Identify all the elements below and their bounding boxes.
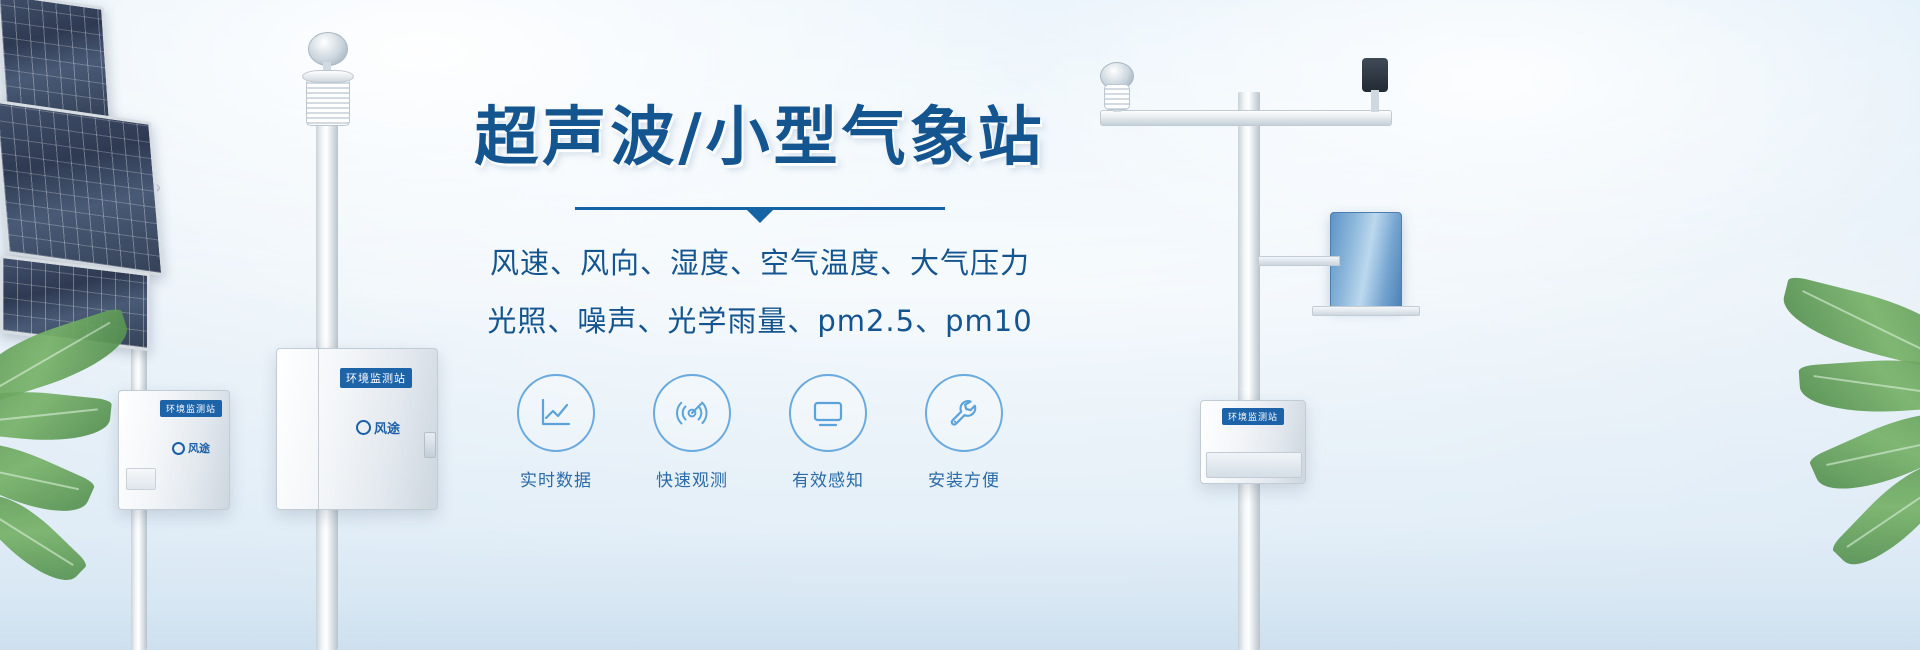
feature-item-realtime-data[interactable]: 实时数据 [506, 374, 606, 491]
subtitle-line-2: 光照、噪声、光学雨量、pm2.5、pm10 [450, 298, 1070, 340]
feature-label: 有效感知 [778, 466, 878, 491]
cabinet-latch [424, 432, 436, 458]
camera-sensor [1362, 58, 1388, 92]
feature-label: 快速观测 [642, 466, 742, 491]
leaf-icon [1798, 354, 1920, 418]
brand-name: 风途 [374, 418, 400, 437]
subtitle-line-1: 风速、风向、湿度、空气温度、大气压力 [450, 240, 1070, 282]
sensor-cap [302, 70, 354, 83]
cabinet-door-seam [318, 348, 319, 510]
leaf-icon [0, 384, 112, 447]
background-ground [0, 530, 1920, 650]
page-title: 超声波/小型气象站 [450, 104, 1070, 173]
cabinet-label: 环境监测站 [1222, 408, 1284, 425]
feature-icon-circle [653, 374, 731, 452]
brand-name: 风途 [188, 440, 210, 456]
cabinet-vent [126, 468, 156, 490]
wrench-icon [944, 393, 984, 433]
product-banner: 环境监测站 风途 环境监测站 风途 [0, 0, 1920, 650]
left-weather-station: 环境监测站 风途 [0, 0, 1920, 112]
radiation-shield-sensor [306, 78, 350, 126]
feature-item-effective-sensing[interactable]: 有效感知 [778, 374, 878, 491]
radiation-shield-sensor [1104, 84, 1130, 110]
cabinet-label: 环境监测站 [160, 400, 222, 417]
brand-mark-icon [172, 442, 185, 455]
crossarm [1100, 110, 1392, 126]
mounting-pole [1238, 92, 1260, 650]
cabinet-label: 环境监测站 [340, 368, 412, 388]
feature-label: 实时数据 [506, 466, 606, 491]
monitor-icon [808, 393, 848, 433]
cabinet-base [1206, 452, 1302, 478]
line-chart-icon [536, 393, 576, 433]
rain-gauge-shelf [1312, 306, 1420, 316]
brand-logo: 风途 [172, 440, 210, 456]
camera-mount [1371, 90, 1379, 112]
rain-gauge-arm [1258, 256, 1340, 266]
feature-icon-circle [517, 374, 595, 452]
ultrasonic-anemometer [308, 32, 348, 66]
brand-mark-icon [356, 420, 371, 435]
title-divider [575, 207, 945, 210]
feature-list: 实时数据 快速观测 [450, 374, 1070, 491]
feature-item-fast-observation[interactable]: 快速观测 [642, 374, 742, 491]
banner-copy: 超声波/小型气象站 风速、风向、湿度、空气温度、大气压力 光照、噪声、光学雨量、… [450, 104, 1070, 491]
feature-label: 安装方便 [914, 466, 1014, 491]
feature-icon-circle [789, 374, 867, 452]
caret-down-icon [747, 210, 773, 223]
solar-panel [0, 99, 164, 276]
brand-logo: 风途 [356, 418, 400, 437]
radar-scan-icon [672, 393, 712, 433]
feature-item-easy-installation[interactable]: 安装方便 [914, 374, 1014, 491]
optical-rain-gauge [1330, 212, 1402, 308]
feature-icon-circle [925, 374, 1003, 452]
